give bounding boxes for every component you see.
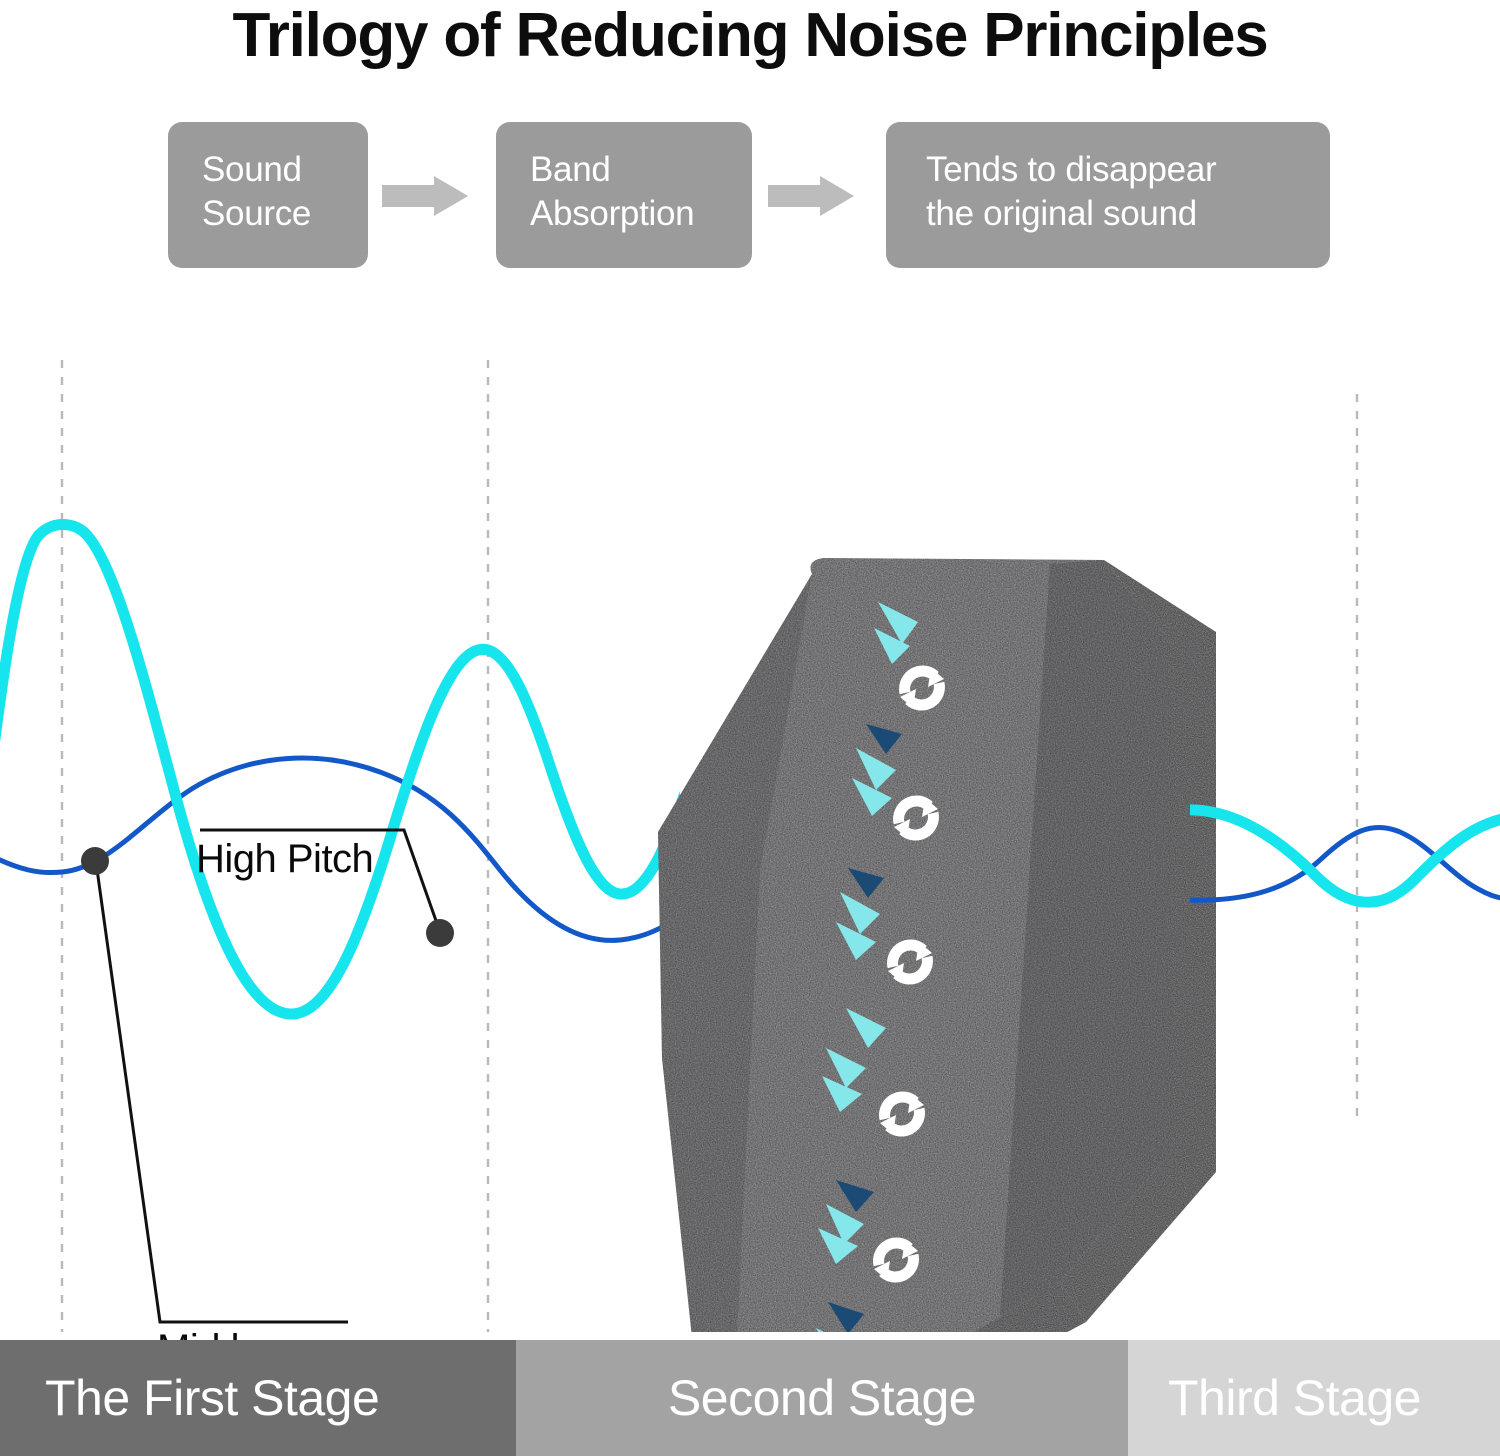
stage-item-first: The First Stage xyxy=(0,1340,516,1456)
noise-reduction-scene: High Pitch Mid bass xyxy=(0,272,1500,1332)
flow-step-tends-to-disappear: Tends to disappear the original sound xyxy=(886,122,1330,268)
flow-step-band-absorption: Band Absorption xyxy=(496,122,752,268)
arrow-shaft xyxy=(768,185,824,207)
callout-leaders xyxy=(81,830,454,1322)
flow-step-line-1: Band xyxy=(530,148,752,192)
arrow-head xyxy=(434,176,468,216)
page-title: Trilogy of Reducing Noise Principles xyxy=(0,0,1500,74)
flow-step-line-2: Source xyxy=(202,192,368,236)
callout-label-high-pitch: High Pitch xyxy=(196,837,373,882)
flow-step-sound-source: Sound Source xyxy=(168,122,368,268)
infographic-root: Trilogy of Reducing Noise Principles Sou… xyxy=(0,0,1500,1456)
acoustic-foam-block xyxy=(658,558,1216,1332)
flow-step-line-2: Absorption xyxy=(530,192,752,236)
flow-arrow-icon-2 xyxy=(768,176,854,216)
stage-item-third: Third Stage xyxy=(1128,1340,1500,1456)
waves-outgoing xyxy=(1185,810,1500,902)
wave-high-pitch-outgoing xyxy=(1186,810,1500,902)
flow-step-line-1: Tends to disappear xyxy=(926,148,1330,192)
flow-arrow-icon-1 xyxy=(382,176,468,216)
flow-step-line-1: Sound xyxy=(202,148,368,192)
stage-item-second: Second Stage xyxy=(516,1340,1128,1456)
stage-bar: The First Stage Second Stage Third Stage xyxy=(0,1340,1500,1456)
arrow-head xyxy=(820,176,854,216)
flow-step-line-2: the original sound xyxy=(926,192,1330,236)
scene-svg xyxy=(0,272,1500,1332)
arrow-shaft xyxy=(382,185,438,207)
callout-dot-high-pitch xyxy=(426,919,454,947)
process-flow: Sound Source Band Absorption Tends to di… xyxy=(0,122,1500,272)
callout-dot-mid-bass xyxy=(81,847,109,875)
